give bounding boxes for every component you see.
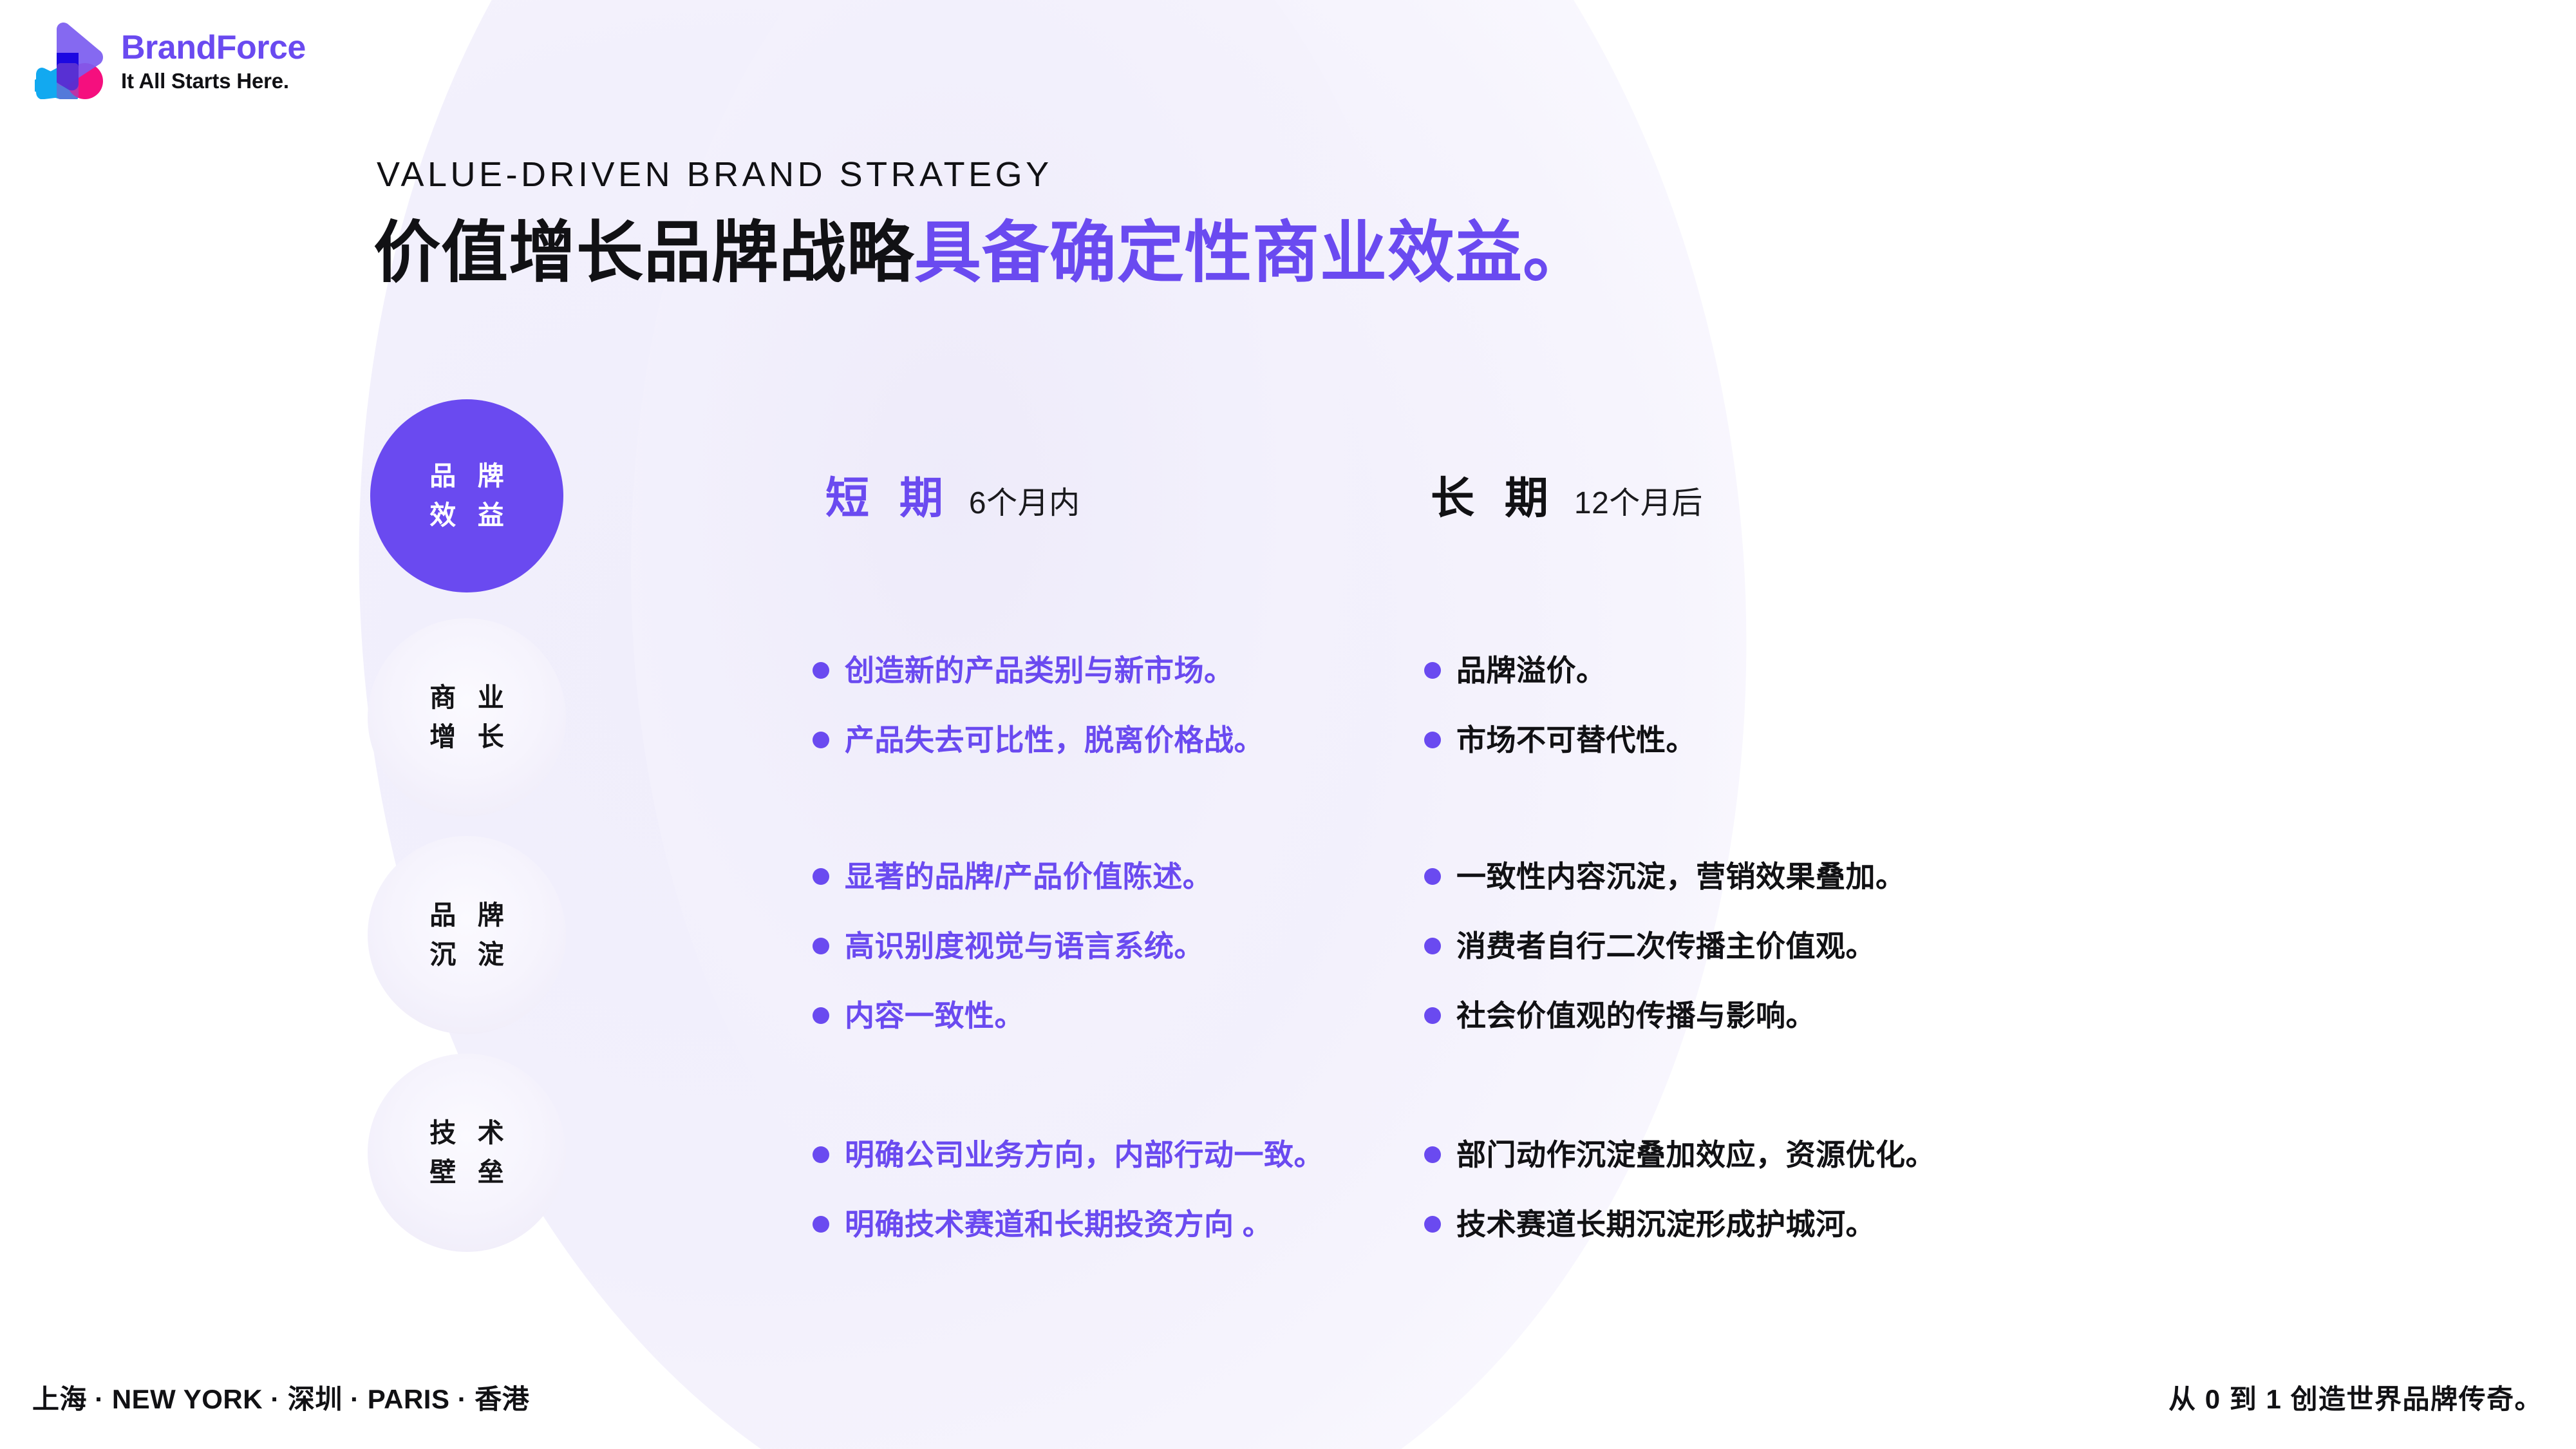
list-item: 内容一致性。 — [813, 996, 1424, 1065]
content-grid: 创造新的产品类别与新市场。 产品失去可比性，脱离价格战。 品牌溢价。 市场不可替… — [813, 650, 2229, 1274]
pillar-list: 品 牌 效 益 商 业 增 长 品 牌 沉 淀 技 术 壁 垒 — [370, 399, 566, 1271]
headline-accent: 具备确定性商业效益。 — [914, 216, 1590, 290]
list-item: 部门动作沉淀叠加效应，资源优化。 — [1424, 1135, 2036, 1204]
bullet-dot-icon — [1424, 1007, 1441, 1024]
list-item-text: 明确公司业务方向，内部行动一致。 — [845, 1135, 1324, 1175]
short-term-cell: 明确公司业务方向，内部行动一致。 明确技术赛道和长期投资方向 。 — [813, 1135, 1424, 1274]
list-item: 高识别度视觉与语言系统。 — [813, 926, 1424, 996]
column-header-long-term: 长 期 12个月后 — [1422, 462, 1703, 526]
list-item: 市场不可替代性。 — [1424, 720, 2036, 790]
list-item-text: 一致性内容沉淀，营销效果叠加。 — [1456, 857, 1906, 896]
pillar-label-line1: 技 术 — [422, 1113, 511, 1153]
column-timeframe-label: 12个月后 — [1574, 477, 1703, 522]
row-spacer — [813, 790, 2229, 857]
long-term-cell: 品牌溢价。 市场不可替代性。 — [1424, 650, 2036, 790]
bullet-dot-icon — [813, 1007, 829, 1024]
brandforce-play-mark-icon — [31, 21, 107, 99]
page-title: 价值增长品牌战略具备确定性商业效益。 — [373, 213, 1590, 294]
logo-tagline: It All Starts Here. — [121, 70, 306, 91]
footer-locations: 上海 · NEW YORK · 深圳 · PARIS · 香港 — [32, 1378, 529, 1417]
pillar-tech-barrier[interactable]: 技 术 壁 垒 — [368, 1054, 566, 1252]
list-item-text: 创造新的产品类别与新市场。 — [845, 650, 1234, 690]
column-header-short-term: 短 期 6个月内 — [816, 462, 1080, 526]
content-row-business-growth: 创造新的产品类别与新市场。 产品失去可比性，脱离价格战。 品牌溢价。 市场不可替… — [813, 650, 2229, 790]
list-item: 明确技术赛道和长期投资方向 。 — [813, 1204, 1424, 1274]
logo-name: BrandForce — [121, 31, 306, 64]
list-item-text: 社会价值观的传播与影响。 — [1456, 996, 1816, 1036]
bullet-dot-icon — [1424, 1216, 1441, 1233]
pillar-label-line1: 品 牌 — [422, 896, 511, 936]
bullet-dot-icon — [813, 732, 829, 748]
list-item: 技术赛道长期沉淀形成护城河。 — [1424, 1204, 2036, 1274]
list-item: 明确公司业务方向，内部行动一致。 — [813, 1135, 1424, 1204]
row-spacer — [813, 1065, 2229, 1135]
eyebrow-title: VALUE-DRIVEN BRAND STRATEGY — [377, 155, 1053, 194]
headline-plain: 价值增长品牌战略 — [373, 216, 914, 290]
pillar-brand-accumulation[interactable]: 品 牌 沉 淀 — [368, 836, 566, 1034]
content-row-tech-barrier: 明确公司业务方向，内部行动一致。 明确技术赛道和长期投资方向 。 部门动作沉淀叠… — [813, 1135, 2229, 1274]
pillar-label-line1: 商 业 — [422, 678, 511, 718]
bullet-dot-icon — [813, 662, 829, 679]
brand-logo[interactable]: BrandForce It All Starts Here. — [31, 21, 306, 99]
list-item: 一致性内容沉淀，营销效果叠加。 — [1424, 857, 2036, 926]
long-term-cell: 一致性内容沉淀，营销效果叠加。 消费者自行二次传播主价值观。 社会价值观的传播与… — [1424, 857, 2036, 1065]
list-item-text: 品牌溢价。 — [1456, 650, 1606, 690]
list-item-text: 部门动作沉淀叠加效应，资源优化。 — [1456, 1135, 1935, 1175]
pillar-label-line2: 沉 淀 — [422, 935, 511, 975]
pillar-business-growth[interactable]: 商 业 增 长 — [368, 618, 566, 817]
list-item: 产品失去可比性，脱离价格战。 — [813, 720, 1424, 790]
pillar-brand-benefit[interactable]: 品 牌 效 益 — [370, 399, 563, 592]
list-item: 消费者自行二次传播主价值观。 — [1424, 926, 2036, 996]
short-term-cell: 创造新的产品类别与新市场。 产品失去可比性，脱离价格战。 — [813, 650, 1424, 790]
bullet-dot-icon — [813, 1216, 829, 1233]
list-item: 显著的品牌/产品价值陈述。 — [813, 857, 1424, 926]
long-term-cell: 部门动作沉淀叠加效应，资源优化。 技术赛道长期沉淀形成护城河。 — [1424, 1135, 2036, 1274]
footer-slogan: 从 0 到 1 创造世界品牌传奇。 — [2168, 1378, 2543, 1417]
bullet-dot-icon — [1424, 868, 1441, 885]
slide-canvas: BrandForce It All Starts Here. VALUE-DRI… — [0, 0, 2576, 1449]
list-item-text: 内容一致性。 — [845, 996, 1024, 1036]
bullet-dot-icon — [813, 868, 829, 885]
bullet-dot-icon — [1424, 1146, 1441, 1163]
pillar-label-line2: 壁 垒 — [422, 1153, 511, 1193]
bullet-dot-icon — [1424, 662, 1441, 679]
content-row-brand-accumulation: 显著的品牌/产品价值陈述。 高识别度视觉与语言系统。 内容一致性。 一致性内容沉… — [813, 857, 2229, 1065]
list-item: 社会价值观的传播与影响。 — [1424, 996, 2036, 1065]
pillar-label-line2: 增 长 — [422, 717, 511, 757]
list-item-text: 产品失去可比性，脱离价格战。 — [845, 720, 1264, 760]
short-term-cell: 显著的品牌/产品价值陈述。 高识别度视觉与语言系统。 内容一致性。 — [813, 857, 1424, 1065]
list-item-text: 消费者自行二次传播主价值观。 — [1456, 926, 1876, 966]
list-item: 创造新的产品类别与新市场。 — [813, 650, 1424, 720]
list-item-text: 明确技术赛道和长期投资方向 。 — [845, 1204, 1272, 1244]
column-term-label: 长 期 — [1422, 462, 1557, 526]
list-item-text: 技术赛道长期沉淀形成护城河。 — [1456, 1204, 1876, 1244]
list-item: 品牌溢价。 — [1424, 650, 2036, 720]
bullet-dot-icon — [1424, 732, 1441, 748]
logo-wordmark: BrandForce It All Starts Here. — [121, 28, 306, 91]
list-item-text: 高识别度视觉与语言系统。 — [845, 926, 1204, 966]
bullet-dot-icon — [813, 938, 829, 954]
list-item-text: 市场不可替代性。 — [1456, 720, 1696, 760]
column-timeframe-label: 6个月内 — [969, 477, 1080, 522]
column-term-label: 短 期 — [816, 462, 952, 526]
pillar-label-line1: 品 牌 — [422, 457, 511, 497]
list-item-text: 显著的品牌/产品价值陈述。 — [845, 857, 1212, 896]
bullet-dot-icon — [813, 1146, 829, 1163]
bullet-dot-icon — [1424, 938, 1441, 954]
pillar-label-line2: 效 益 — [422, 496, 511, 536]
